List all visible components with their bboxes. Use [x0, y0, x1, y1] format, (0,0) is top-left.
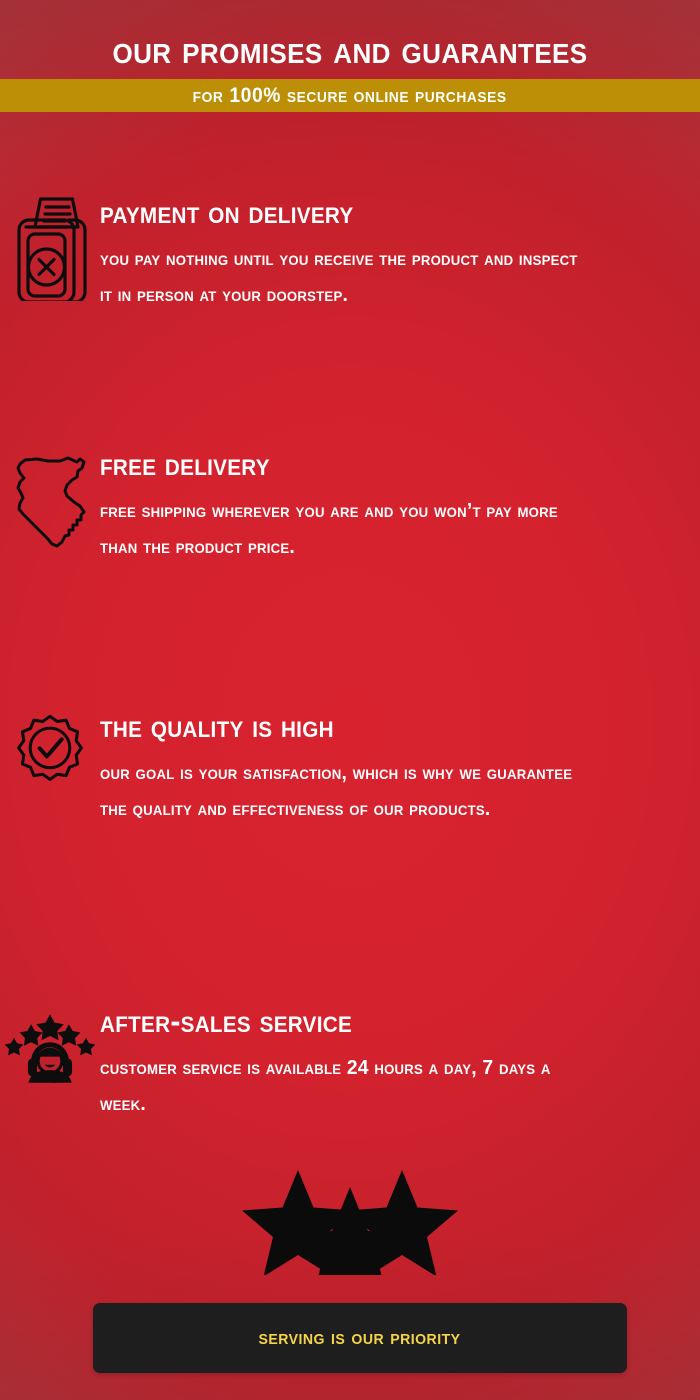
three-stars-row [0, 1165, 700, 1275]
subtitle-bar: For 100% secure online purchases [0, 79, 700, 112]
page-subtitle: For 100% secure online purchases [193, 85, 507, 106]
feature-title: The quality is high [100, 710, 584, 744]
priority-banner[interactable]: Serving is our priority [93, 1303, 627, 1373]
feature-icon-slot [0, 710, 100, 802]
feature-icon-slot [0, 1005, 100, 1083]
feature-title: Payment on delivery [100, 196, 584, 230]
feature-title: Free delivery [100, 448, 584, 482]
feature-item-payment-on-delivery: Payment on delivery You pay nothing unti… [0, 196, 700, 314]
feature-text-block: Free delivery Free shipping wherever you… [100, 448, 700, 566]
priority-banner-label: Serving is our priority [259, 1327, 461, 1349]
feature-item-after-sales-service: After-sales service Customer service is … [0, 1005, 700, 1123]
three-stars-icon [235, 1165, 465, 1275]
feature-description: Free shipping wherever you are and you w… [100, 493, 584, 566]
quality-badge-check-icon [5, 710, 95, 802]
feature-text-block: After-sales service Customer service is … [100, 1005, 700, 1123]
feature-text-block: Payment on delivery You pay nothing unti… [100, 196, 700, 314]
feature-text-block: The quality is high Our goal is your sat… [100, 710, 700, 828]
feature-description: Customer service is available 24 hours a… [100, 1050, 584, 1123]
poster-header: Our promises and guarantees For 100% sec… [0, 0, 700, 112]
page-title: Our promises and guarantees [25, 0, 676, 79]
support-agent-stars-icon [5, 1005, 95, 1083]
feature-icon-slot [0, 196, 100, 301]
feature-icon-slot [0, 448, 100, 556]
feature-title: After-sales service [100, 1005, 584, 1039]
kenya-map-icon [8, 448, 92, 556]
promises-poster: Our promises and guarantees For 100% sec… [0, 0, 700, 1400]
feature-description: You pay nothing until you receive the pr… [100, 241, 584, 314]
feature-description: Our goal is your satisfaction, which is … [100, 755, 584, 828]
card-payment-terminal-icon [9, 196, 91, 301]
feature-item-high-quality: The quality is high Our goal is your sat… [0, 710, 700, 828]
feature-item-free-delivery: Free delivery Free shipping wherever you… [0, 448, 700, 566]
